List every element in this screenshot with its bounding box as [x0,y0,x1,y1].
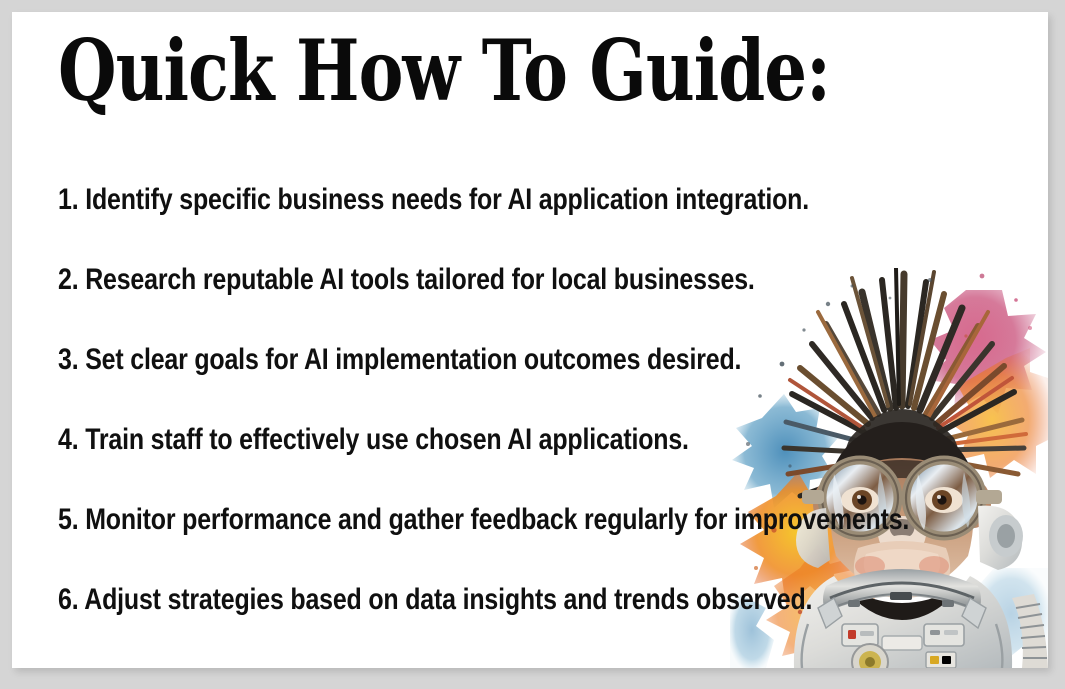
list-item: 6. Adjust strategies based on data insig… [58,560,886,640]
page-title: Quick How To Guide: [58,28,830,114]
list-item: 3. Set clear goals for AI implementation… [58,320,886,400]
slide-card: Quick How To Guide: 1. Identify specific… [12,12,1048,668]
list-item: 1. Identify specific business needs for … [58,160,886,240]
list-item: 4. Train staff to effectively use chosen… [58,400,886,480]
list-item: 5. Monitor performance and gather feedba… [58,480,886,560]
slide-canvas: Quick How To Guide: 1. Identify specific… [0,0,1065,689]
list-item: 2. Research reputable AI tools tailored … [58,240,886,320]
steps-list: 1. Identify specific business needs for … [58,160,1038,640]
